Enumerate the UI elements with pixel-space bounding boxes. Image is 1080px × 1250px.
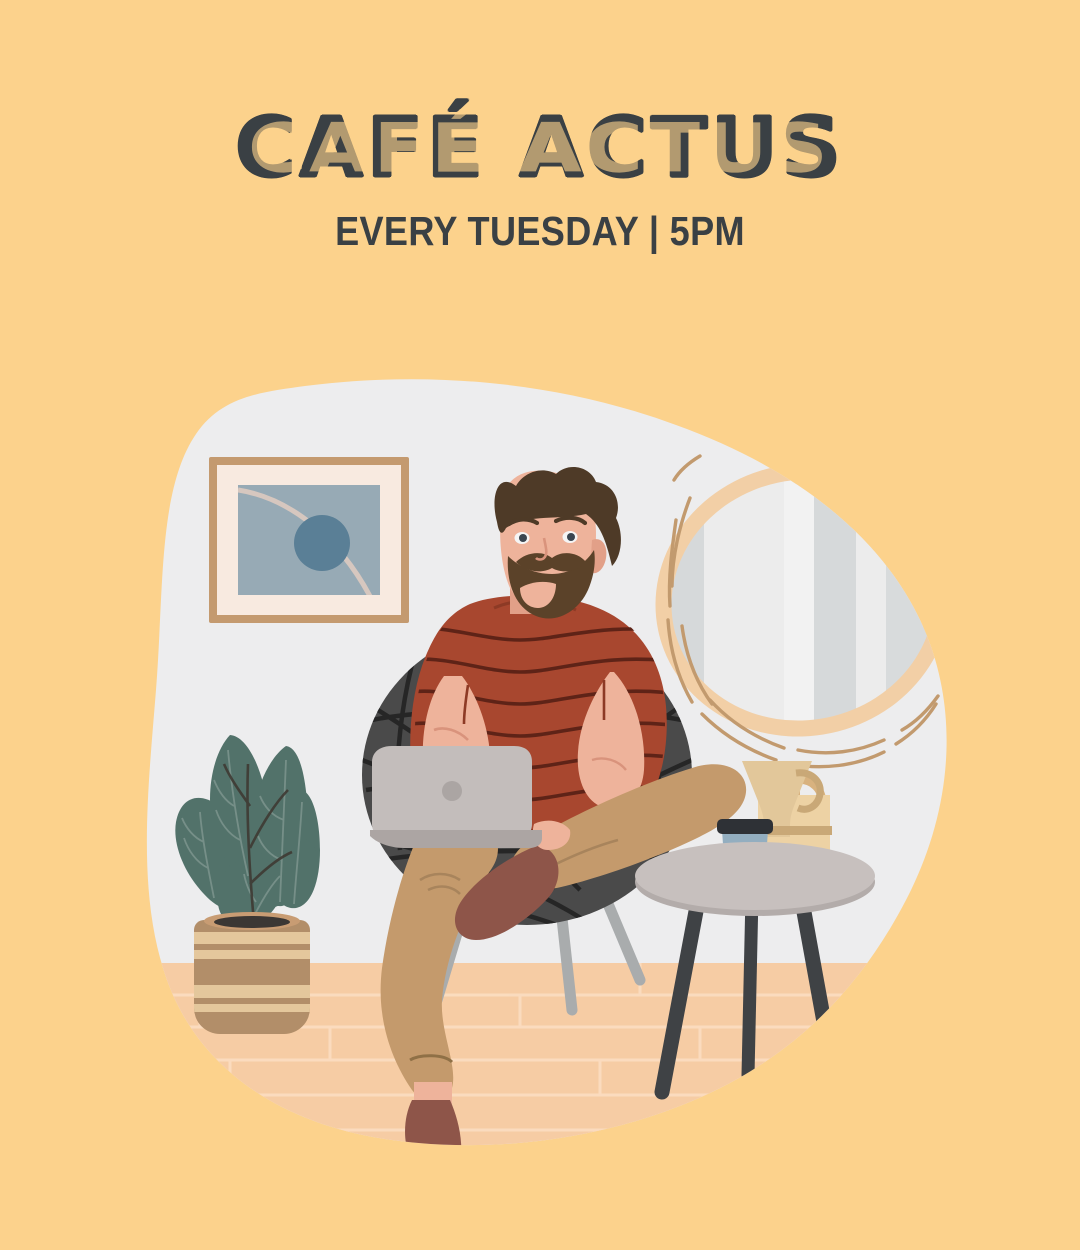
laptop-logo-icon	[442, 781, 462, 801]
page-title: CAFÉ ACTUS	[0, 0, 1080, 190]
poster-header: CAFÉ ACTUS EVERY TUESDAY | 5PM	[0, 0, 1080, 255]
person-sock	[405, 1100, 461, 1182]
page-title-text: CAFÉ ACTUS	[235, 108, 844, 190]
framed-wall-art	[209, 457, 409, 623]
silver-laptop[interactable]	[370, 746, 542, 848]
travel-cup-lid	[717, 819, 773, 834]
poster-canvas: CAFÉ ACTUS EVERY TUESDAY | 5PM	[0, 0, 1080, 1250]
page-subtitle: EVERY TUESDAY | 5PM	[65, 190, 1015, 255]
